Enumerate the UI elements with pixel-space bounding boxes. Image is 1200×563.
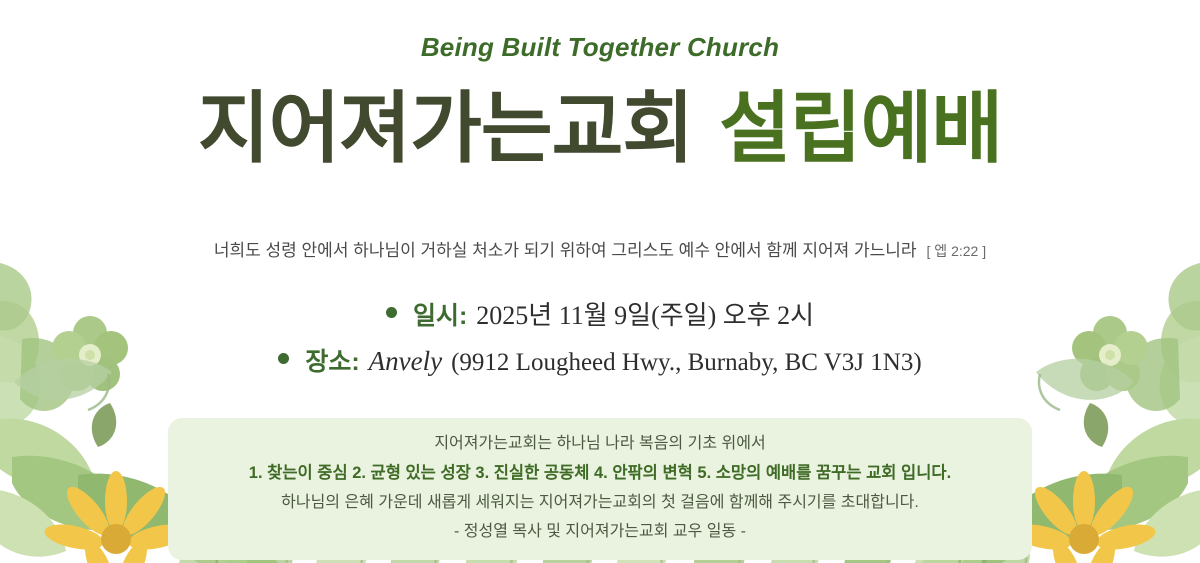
scripture-verse: 너희도 성령 안에서 하나님이 거하실 처소가 되기 위하여 그리스도 예수 안… [0,236,1200,261]
datetime-label: 일시: [413,296,467,332]
datetime-value: 2025년 11월 9일(주일) 오후 2시 [476,295,814,332]
title-part-event-name: 설립예배 [719,84,1002,172]
location-label: 장소: [305,342,359,378]
invitation-message-box: 지어져가는교회는 하나님 나라 복음의 기초 위에서 1. 찾는이 중심 2. … [168,418,1032,560]
title-part-church-name: 지어져가는교회 [198,84,693,172]
english-subtitle: Being Built Together Church [0,32,1200,63]
message-line-3: 하나님의 은혜 가운데 새롭게 세워지는 지어져가는교회의 첫 걸음에 함께해 … [188,491,1012,515]
page-title: 지어져가는교회설립예배 [0,86,1200,172]
verse-text: 너희도 성령 안에서 하나님이 거하실 처소가 되기 위하여 그리스도 예수 안… [214,241,917,260]
venue-name: Anvely [369,346,442,377]
detail-row-datetime: 일시: 2025년 11월 9일(주일) 오후 2시 [386,295,814,332]
venue-address: (9912 Lougheed Hwy., Burnaby, BC V3J 1N3… [451,349,922,377]
detail-row-location: 장소: Anvely (9912 Lougheed Hwy., Burnaby,… [278,342,921,378]
verse-citation: [ 엡 2:22 ] [927,243,987,259]
bullet-icon [278,353,289,364]
message-line-principles: 1. 찾는이 중심 2. 균형 있는 성장 3. 진실한 공동체 4. 안팎의 … [188,461,1012,486]
invitation-poster: Being Built Together Church 지어져가는교회설립예배 … [0,0,1200,563]
message-signature: - 정성열 목사 및 지어져가는교회 교우 일동 - [188,520,1012,544]
event-details-list: 일시: 2025년 11월 9일(주일) 오후 2시 장소: Anvely (9… [0,295,1200,378]
bullet-icon [386,307,397,318]
message-line-1: 지어져가는교회는 하나님 나라 복음의 기초 위에서 [188,432,1012,456]
